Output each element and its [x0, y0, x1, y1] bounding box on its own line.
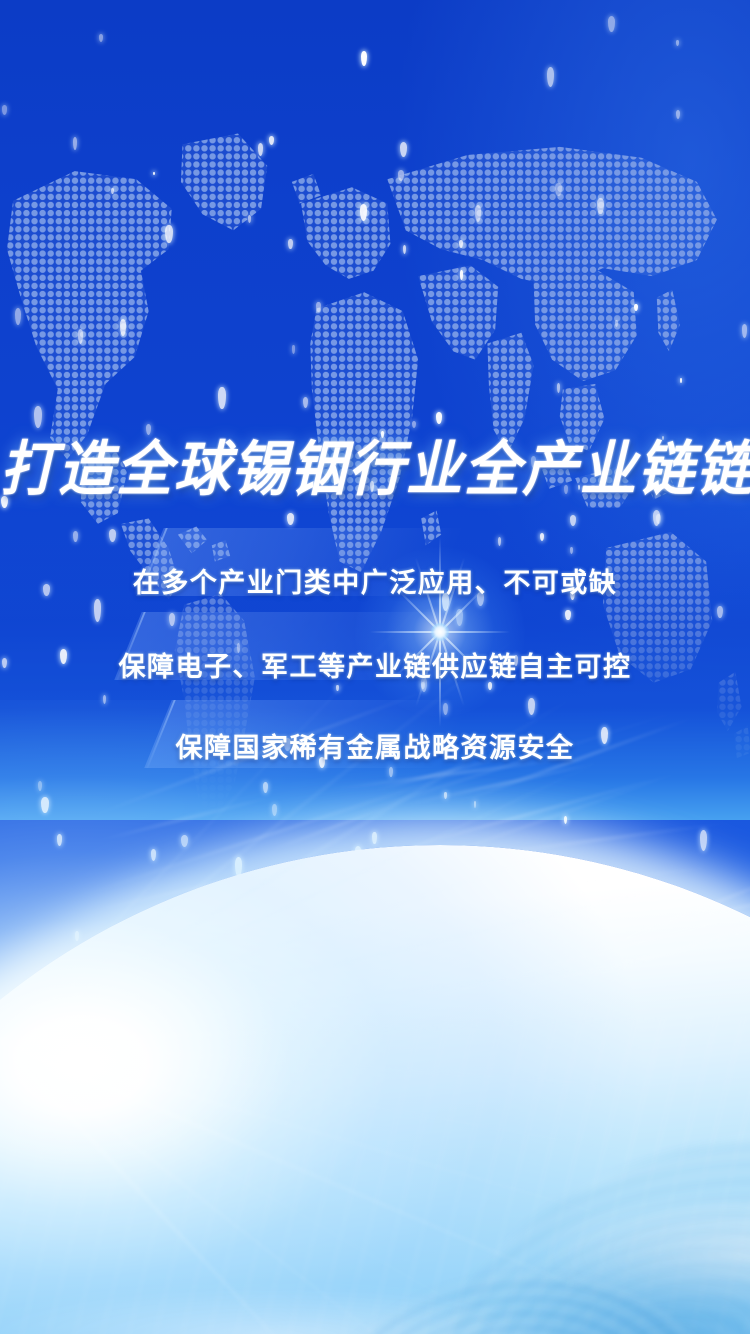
poster-subtitle-2: 保障电子、军工等产业链供应链自主可控	[0, 645, 750, 684]
star-sparkle-icon	[676, 110, 680, 119]
star-sparkle-icon	[111, 188, 114, 194]
poster-subtitle-1: 在多个产业门类中广泛应用、不可或缺	[0, 561, 750, 600]
star-sparkle-icon	[547, 67, 554, 87]
star-sparkle-icon	[248, 215, 251, 223]
star-sparkle-icon	[292, 345, 296, 354]
poster-canvas: 打造全球锡铟行业全产业链链主 在多个产业门类中广泛应用、不可或缺 保障电子、军工…	[0, 0, 750, 1334]
star-sparkle-icon	[565, 610, 570, 620]
star-sparkle-icon	[444, 792, 447, 798]
planet-right-shadow	[0, 845, 750, 1334]
star-sparkle-icon	[263, 782, 268, 793]
star-sparkle-icon	[336, 685, 339, 691]
earth-planet	[0, 845, 750, 1334]
star-sparkle-icon	[403, 245, 406, 254]
flare-core	[431, 623, 449, 641]
star-sparkle-icon	[459, 240, 463, 248]
star-sparkle-icon	[372, 832, 376, 844]
star-sparkle-icon	[78, 329, 83, 344]
poster-subtitle-3: 保障国家稀有金属战略资源安全	[0, 726, 750, 765]
star-sparkle-icon	[540, 533, 544, 541]
star-sparkle-icon	[288, 239, 292, 249]
star-sparkle-icon	[218, 387, 225, 408]
star-sparkle-icon	[73, 137, 77, 150]
star-sparkle-icon	[316, 302, 320, 312]
poster-headline: 打造全球锡铟行业全产业链链主	[0, 422, 750, 508]
star-sparkle-icon	[570, 547, 573, 554]
star-sparkle-icon	[169, 613, 175, 626]
star-sparkle-icon	[597, 198, 603, 214]
star-sparkle-icon	[269, 136, 274, 144]
